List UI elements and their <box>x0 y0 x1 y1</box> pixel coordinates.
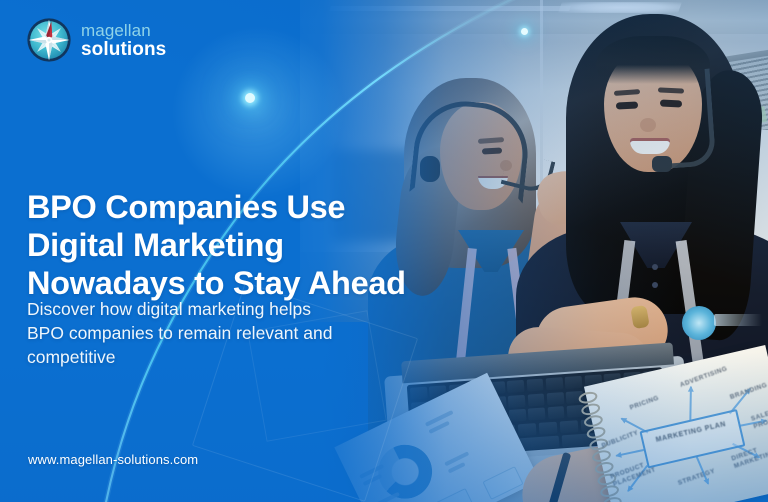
website-url[interactable]: www.magellan-solutions.com <box>28 452 198 467</box>
compass-rose-icon <box>26 17 72 63</box>
arc-glow-dot <box>245 93 255 103</box>
brand-wordmark: magellan solutions <box>81 22 166 59</box>
brand-name-secondary: solutions <box>81 40 166 59</box>
brand-name-primary: magellan <box>81 22 166 39</box>
headline: BPO Companies Use Digital Marketing Nowa… <box>27 188 527 302</box>
marketing-banner: MARKETING PLAN ADVERTISING BRANDING SALE… <box>0 0 768 502</box>
arc-glow-dot-secondary <box>521 28 528 35</box>
subheading: Discover how digital marketing helps BPO… <box>27 297 427 369</box>
brand-logo[interactable]: magellan solutions <box>26 17 166 63</box>
